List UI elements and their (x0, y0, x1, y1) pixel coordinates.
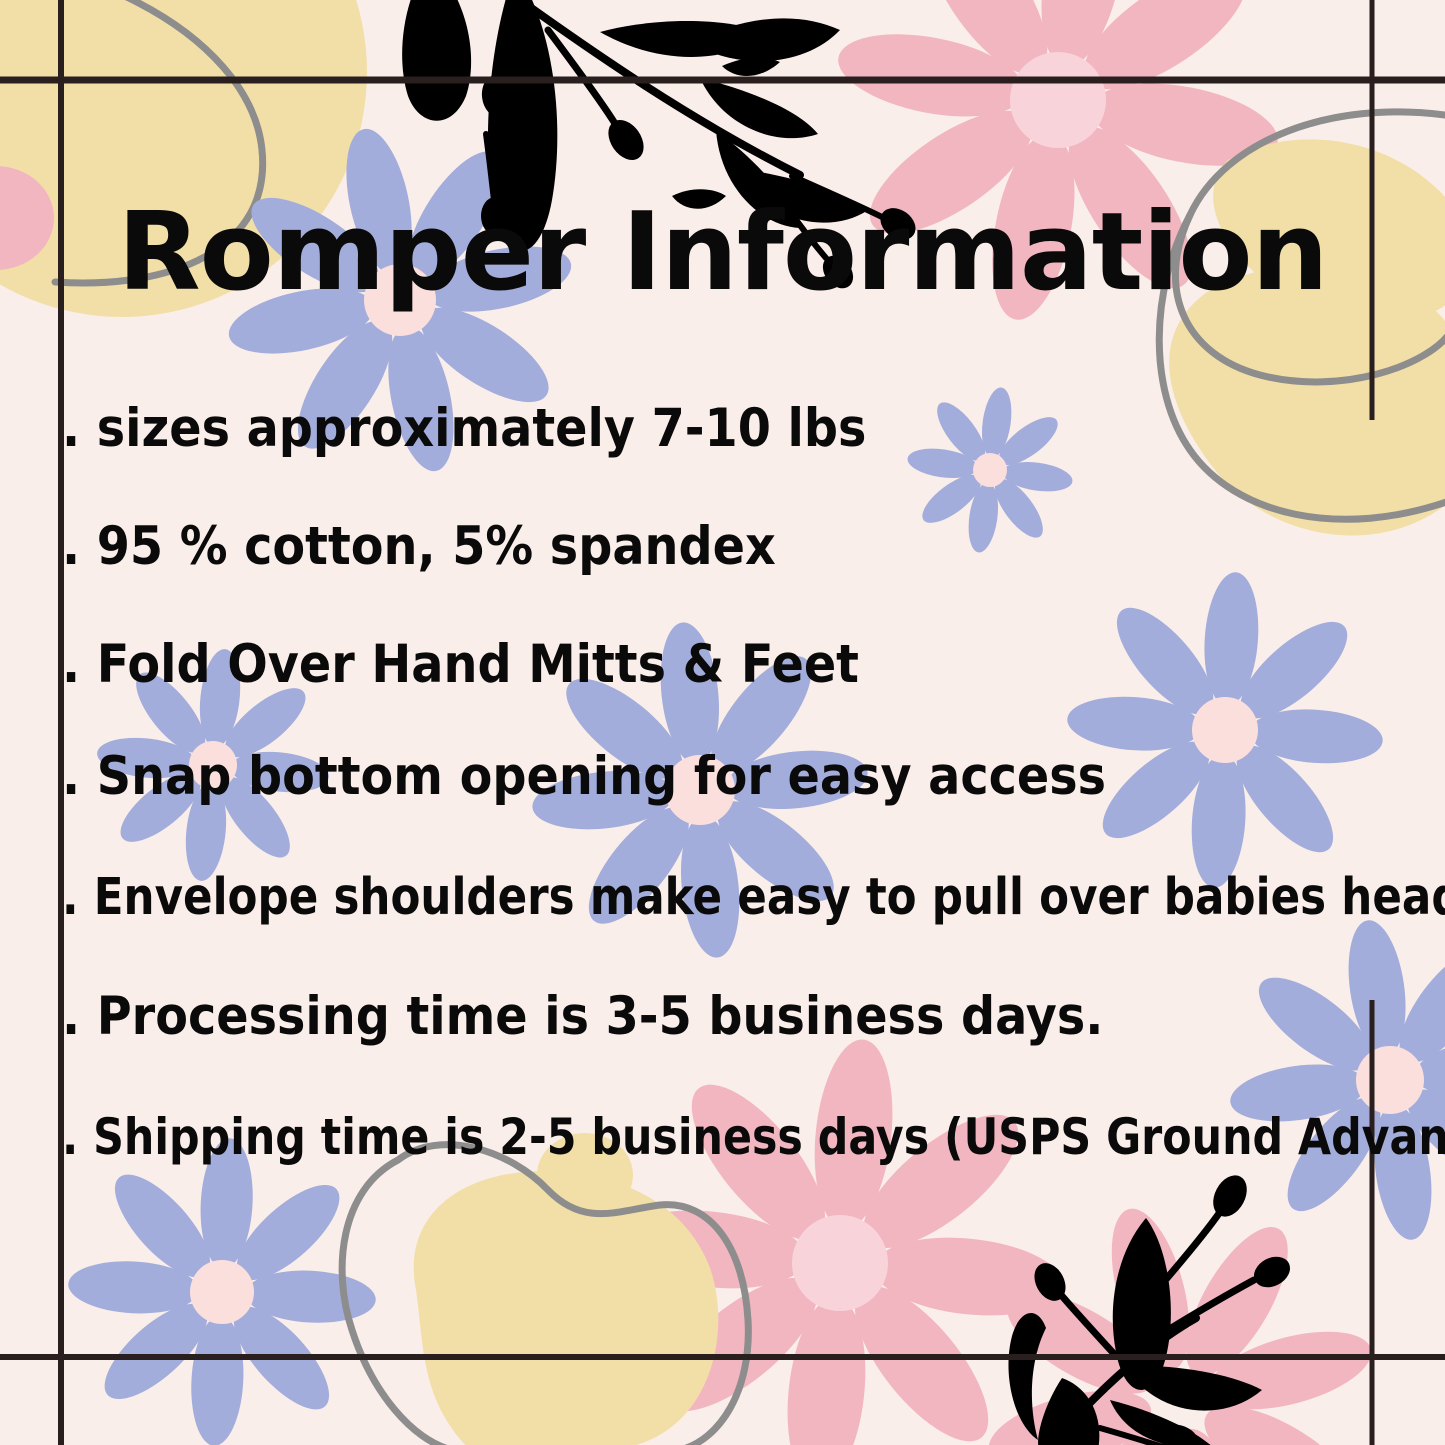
decorative-background (0, 0, 1445, 1445)
poster-canvas: Romper Information . sizes approximately… (0, 0, 1445, 1445)
